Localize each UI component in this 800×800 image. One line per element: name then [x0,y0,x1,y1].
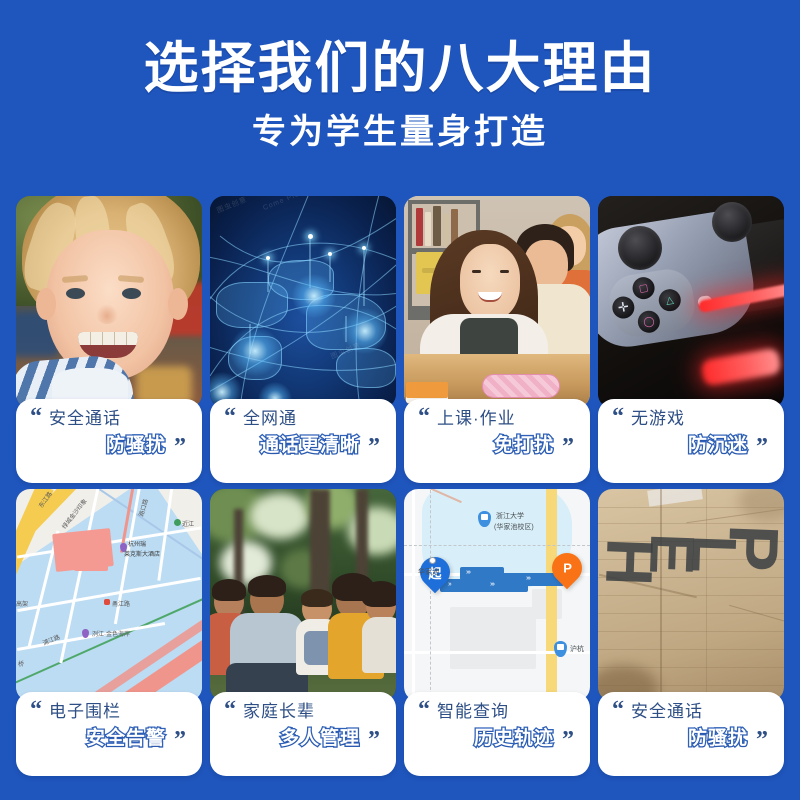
feature-card[interactable]: “ 安全通话 防骚扰 ” [16,196,202,483]
card-caption-line2: 历史轨迹 ” [416,728,578,751]
card-caption-line1-text: 无游戏 [631,409,685,428]
card-image-family-park-photo [210,489,396,701]
card-caption-line2: 防骚扰 ” [610,728,772,751]
card-image-game-controller-photo: ✛ ▢ ◯ △ [598,196,784,408]
card-caption-line1-text: 安全通话 [631,702,703,721]
feature-card[interactable]: 图虫创意 Come Pic 图虫创意 “ 全网通 通话更清晰 ” [210,196,396,483]
feature-card[interactable]: H E L P “ 安全通话 防骚扰 ” [598,489,784,776]
card-caption-line1: “ 智能查询 [416,702,578,722]
poi-station-icon [554,641,567,657]
card-caption-line1-text: 家庭长辈 [243,702,315,721]
quote-close-icon: ” [562,435,574,459]
quote-close-icon: ” [368,728,380,752]
card-image-navigation-route-map: ›› ››› ››› ››› 起 P 浙江大学 (华家池校区) 华家池 沪杭 [404,489,590,701]
quote-open-icon: “ [30,405,43,429]
quote-close-icon: ” [368,435,380,459]
page-title: 选择我们的八大理由 [0,38,800,100]
card-caption-line1: “ 安全通话 [28,409,190,429]
card-caption-line2: 安全告警 ” [28,728,190,751]
card-caption: “ 家庭长辈 多人管理 ” [210,692,396,776]
card-image-city-map-graphic: 杭州瑞 莱克斯大酒店 近江 甬江路 洌江·金色海岸 高架 桥 东江路 绿城金沙印… [16,489,202,701]
card-caption: “ 智能查询 历史轨迹 ” [404,692,590,776]
card-image-help-cardboard-photo: H E L P [598,489,784,701]
card-caption-line1-text: 全网通 [243,409,297,428]
square-button-icon: ▢ [631,276,656,301]
feature-card[interactable]: ✛ ▢ ◯ △ “ 无游戏 防沉迷 ” [598,196,784,483]
card-caption-line2: 多人管理 ” [222,728,384,751]
quote-close-icon: ” [174,728,186,752]
quote-open-icon: “ [612,698,625,722]
card-caption: “ 无游戏 防沉迷 ” [598,399,784,483]
card-image-global-network-graphic: 图虫创意 Come Pic 图虫创意 [210,196,396,408]
feature-card[interactable]: “ 家庭长辈 多人管理 ” [210,489,396,776]
quote-close-icon: ” [756,435,768,459]
card-image-classroom-students-photo [404,196,590,408]
cross-button-icon: ✛ [611,295,636,320]
card-caption-line2-text: 安全告警 [86,728,166,751]
feature-card[interactable]: ›› ››› ››› ››› 起 P 浙江大学 (华家池校区) 华家池 沪杭 [404,489,590,776]
card-caption-line2-text: 多人管理 [280,728,360,751]
card-caption-line1: “ 电子围栏 [28,702,190,722]
quote-open-icon: “ [418,698,431,722]
card-caption: “ 上课·作业 免打扰 ” [404,399,590,483]
card-caption-line2: 防骚扰 ” [28,435,190,458]
feature-card[interactable]: 杭州瑞 莱克斯大酒店 近江 甬江路 洌江·金色海岸 高架 桥 东江路 绿城金沙印… [16,489,202,776]
quote-open-icon: “ [418,405,431,429]
card-caption-line1-text: 智能查询 [437,702,509,721]
poi-lake-label: 华家池 [418,567,439,577]
card-caption-line1: “ 安全通话 [610,702,772,722]
quote-open-icon: “ [612,405,625,429]
feature-card[interactable]: “ 上课·作业 免打扰 ” [404,196,590,483]
card-caption: “ 电子围栏 安全告警 ” [16,692,202,776]
card-caption-line2-text: 防骚扰 [106,435,166,458]
card-caption: “ 全网通 通话更清晰 ” [210,399,396,483]
feature-card-grid: “ 安全通话 防骚扰 ” [16,196,784,776]
card-caption-line1: “ 上课·作业 [416,409,578,429]
triangle-button-icon: △ [657,288,682,313]
card-caption: “ 安全通话 防骚扰 ” [598,692,784,776]
page-header: 选择我们的八大理由 专为学生量身打造 [0,0,800,151]
poi-university-sublabel: (华家池校区) [494,522,534,532]
card-caption-line2: 免打扰 ” [416,435,578,458]
poi-university-label: 浙江大学 [496,511,524,521]
card-caption-line2-text: 免打扰 [494,435,554,458]
card-caption-line2-text: 防骚扰 [688,728,748,751]
card-caption: “ 安全通话 防骚扰 ” [16,399,202,483]
quote-close-icon: ” [562,728,574,752]
card-caption-line1: “ 家庭长辈 [222,702,384,722]
card-caption-line1-text: 电子围栏 [49,702,121,721]
card-caption-line1: “ 无游戏 [610,409,772,429]
card-caption-line1-text: 上课·作业 [437,409,516,428]
quote-open-icon: “ [224,698,237,722]
card-caption-line2: 通话更清晰 ” [222,435,384,458]
quote-close-icon: ” [174,435,186,459]
route-end-label: P [563,561,572,576]
card-image-boy-portrait-photo [16,196,202,408]
quote-open-icon: “ [224,405,237,429]
card-caption-line2: 防沉迷 ” [610,435,772,458]
circle-button-icon: ◯ [636,309,661,334]
quote-close-icon: ” [756,728,768,752]
card-caption-line1-text: 安全通话 [49,409,121,428]
page-subtitle: 专为学生量身打造 [0,114,800,151]
poi-station-label: 沪杭 [570,644,584,654]
card-caption-line1: “ 全网通 [222,409,384,429]
quote-open-icon: “ [30,698,43,722]
card-caption-line2-text: 通话更清晰 [260,435,360,458]
card-caption-line2-text: 防沉迷 [688,435,748,458]
card-caption-line2-text: 历史轨迹 [474,728,554,751]
